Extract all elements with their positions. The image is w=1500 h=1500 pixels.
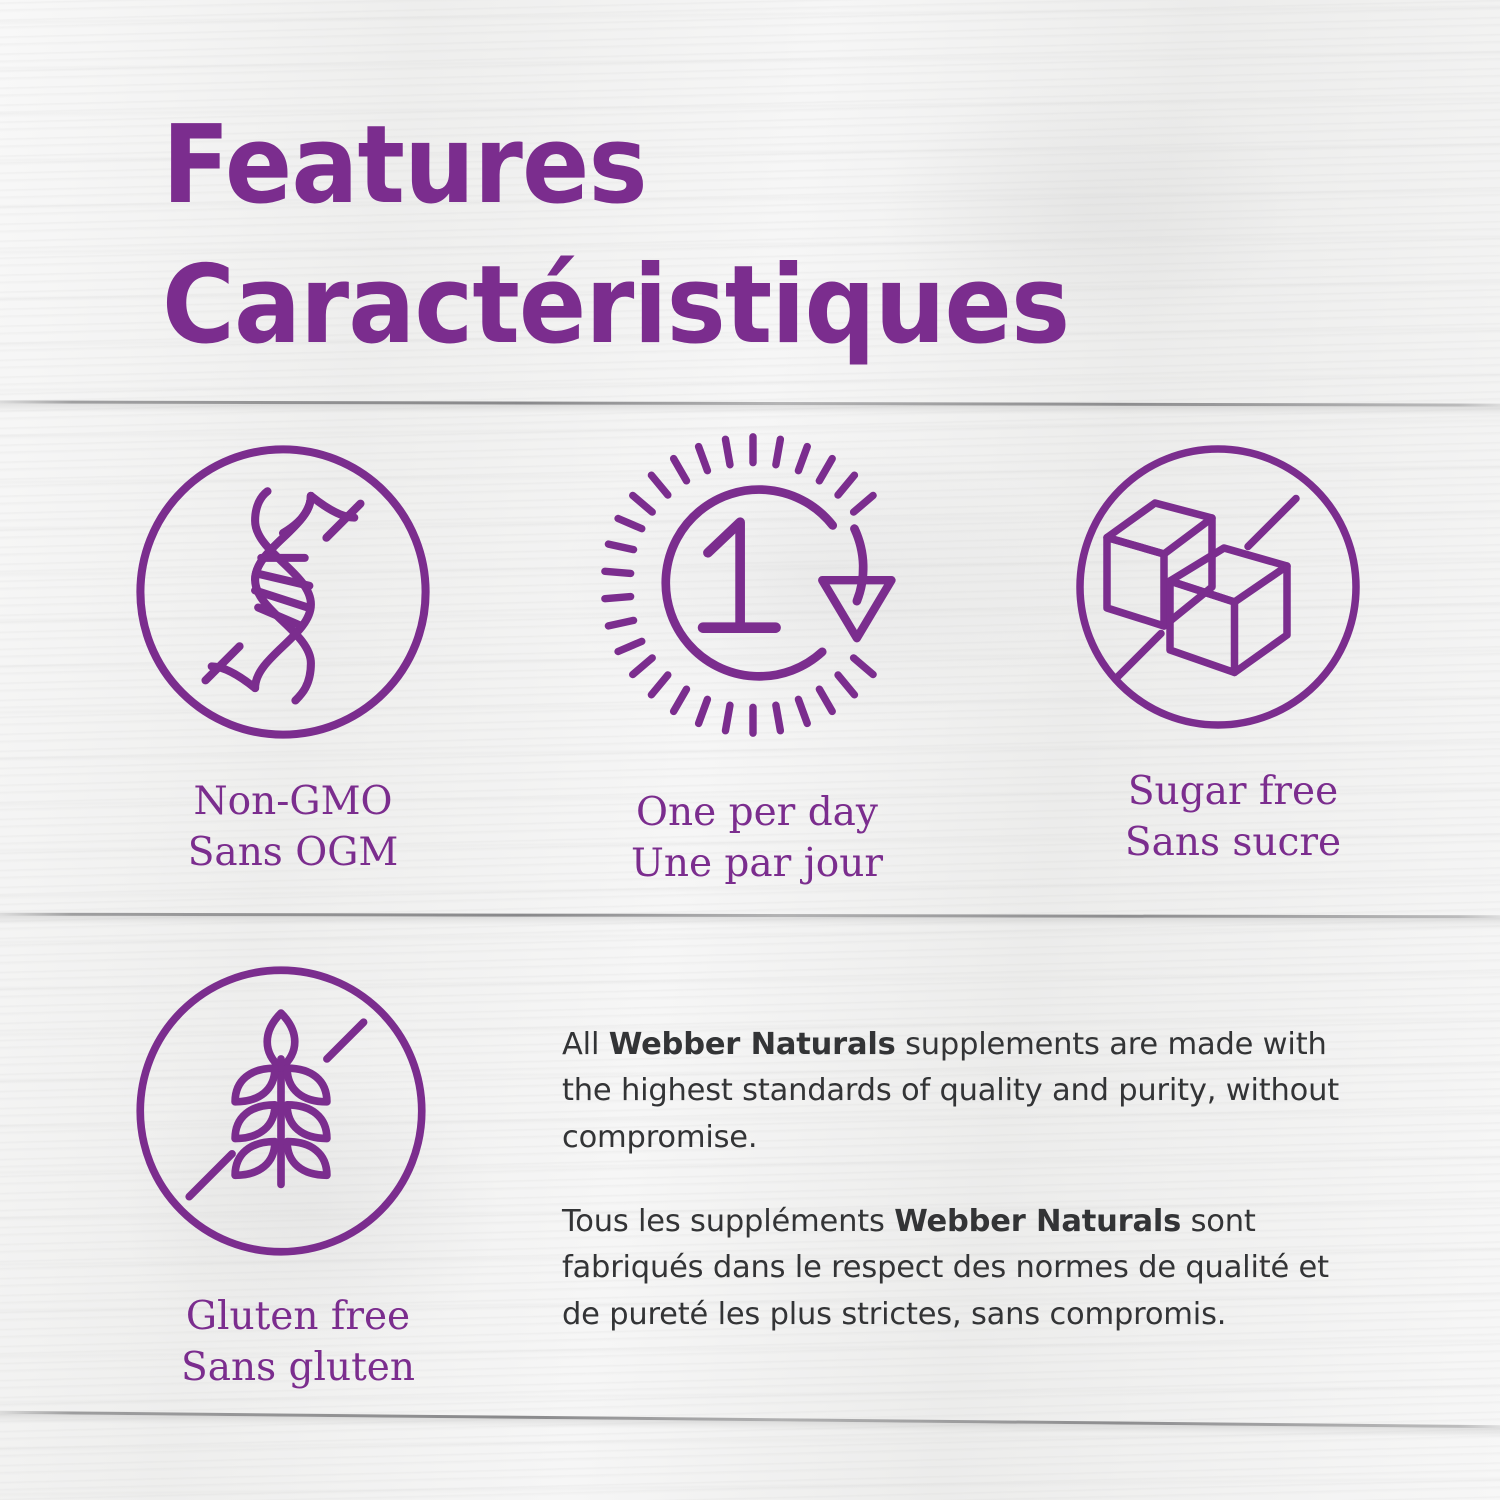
feature-non-gmo: Non-GMO Sans OGM	[128, 437, 458, 878]
feature-sugar-free-label-en: Sugar free	[1128, 769, 1338, 814]
feature-one-per-day-label-en: One per day	[636, 790, 878, 835]
feature-non-gmo-caption: Non-GMO Sans OGM	[128, 777, 458, 878]
feature-sugar-free: Sugar free Sans sucre	[1068, 437, 1398, 868]
body-paragraph-en: All Webber Naturals supplements are made…	[562, 1022, 1372, 1161]
feature-one-per-day: One per day Une par jour	[592, 424, 922, 889]
feature-non-gmo-label-en: Non-GMO	[194, 779, 393, 824]
feature-one-per-day-label-fr: Une par jour	[592, 839, 922, 890]
page-title-fr: Caractéristiques	[162, 236, 1069, 376]
feature-sugar-free-caption: Sugar free Sans sucre	[1068, 767, 1398, 868]
no-gmo-dna-icon	[128, 437, 458, 747]
feature-sugar-free-label-fr: Sans sucre	[1068, 818, 1398, 869]
page-title-en: Features	[162, 103, 647, 228]
no-wheat-icon	[128, 958, 468, 1264]
feature-gluten-free: Gluten free Sans gluten	[128, 958, 468, 1393]
plank-seam	[0, 400, 1500, 406]
body-paragraph-fr: Tous les suppléments Webber Naturals son…	[562, 1199, 1372, 1338]
body-copy: All Webber Naturals supplements are made…	[562, 1022, 1372, 1338]
feature-gluten-free-label-en: Gluten free	[186, 1294, 410, 1339]
no-sugar-cubes-icon	[1068, 437, 1398, 737]
feature-one-per-day-caption: One per day Une par jour	[592, 788, 922, 889]
feature-non-gmo-label-fr: Sans OGM	[128, 828, 458, 879]
feature-infographic-page: Features Caractéristiques	[0, 0, 1500, 1500]
feature-gluten-free-label-fr: Sans gluten	[128, 1343, 468, 1394]
brand-name-en: Webber Naturals	[609, 1027, 896, 1062]
body-en-before-brand: All	[562, 1027, 609, 1062]
body-fr-before-brand: Tous les suppléments	[562, 1204, 894, 1239]
brand-name-fr: Webber Naturals	[894, 1204, 1181, 1239]
plank-seam	[0, 913, 1500, 919]
plank-seam	[0, 1411, 1500, 1429]
page-title: Features Caractéristiques	[162, 96, 1069, 377]
feature-gluten-free-caption: Gluten free Sans gluten	[128, 1292, 468, 1393]
one-per-day-icon	[592, 424, 922, 746]
